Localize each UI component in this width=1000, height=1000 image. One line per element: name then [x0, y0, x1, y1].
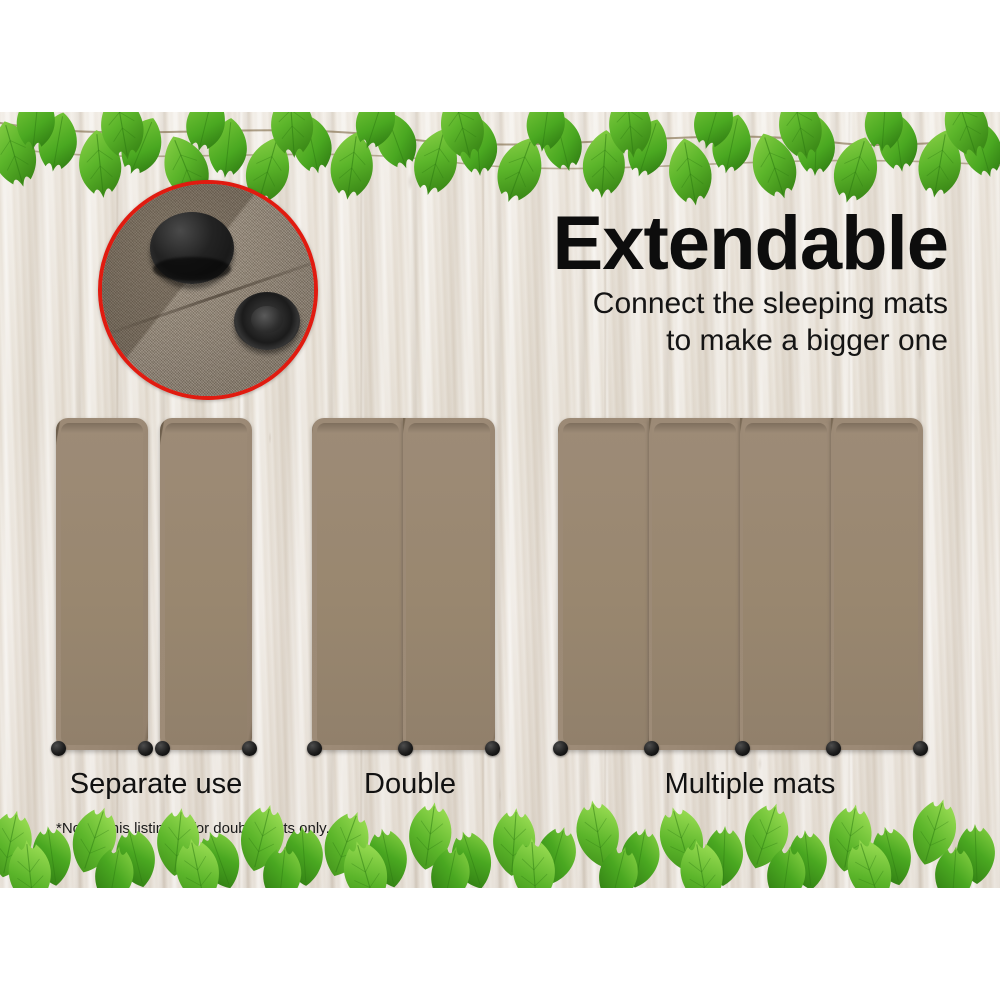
- subtitle-line-1: Connect the sleeping mats: [428, 286, 948, 323]
- caption-multiple-mats: Multiple mats: [580, 768, 920, 801]
- page-title: Extendable: [428, 208, 948, 280]
- sleeping-mat: [558, 418, 650, 750]
- sleeping-mat: [740, 418, 832, 750]
- mat-top-shade: [408, 423, 490, 433]
- caption-double: Double: [310, 768, 510, 801]
- connector-dot: [485, 741, 500, 756]
- mat-inner-panel: [652, 423, 738, 745]
- sleeping-mat: [312, 418, 404, 750]
- connector-dot: [398, 741, 413, 756]
- mat-inner-panel: [317, 423, 401, 745]
- mat-top-shade: [563, 423, 645, 433]
- connector-dot: [242, 741, 257, 756]
- mat-inner-panel: [834, 423, 918, 745]
- caption-separate-use: Separate use: [36, 768, 276, 801]
- mat-top-shade: [317, 423, 399, 433]
- sleeping-mat: [56, 418, 148, 750]
- mat-top-shade: [165, 423, 247, 433]
- mat-top-shade: [836, 423, 918, 433]
- sleeping-mat: [649, 418, 741, 750]
- connector-dot: [644, 741, 659, 756]
- connector-dot: [913, 741, 928, 756]
- headline-block: Extendable Connect the sleeping mats to …: [428, 208, 948, 359]
- mat-group-double: [312, 418, 495, 750]
- mat-top-shade: [61, 423, 143, 433]
- subtitle: Connect the sleeping mats to make a bigg…: [428, 286, 948, 359]
- connector-dot: [51, 741, 66, 756]
- mat-group-multiple: [558, 418, 923, 750]
- subtitle-line-2: to make a bigger one: [428, 323, 948, 360]
- disclaimer-note: *Note: This listing is for double mats o…: [56, 820, 330, 837]
- connector-dot: [553, 741, 568, 756]
- connector-dot: [826, 741, 841, 756]
- connector-dot: [138, 741, 153, 756]
- mat-inner-panel: [165, 423, 247, 745]
- connector-dot: [307, 741, 322, 756]
- snap-button-socket-icon: [234, 292, 300, 350]
- snap-button-stud-icon: [150, 212, 234, 284]
- connector-dot: [735, 741, 750, 756]
- mat-group-separate: [56, 418, 252, 750]
- connector-dot: [155, 741, 170, 756]
- mat-inner-panel: [743, 423, 829, 745]
- sleeping-mat: [831, 418, 923, 750]
- snap-fastener-closeup-inset: [98, 180, 318, 400]
- sleeping-mat: [403, 418, 495, 750]
- mat-inner-panel: [406, 423, 490, 745]
- sleeping-mat: [160, 418, 252, 750]
- mat-top-shade: [654, 423, 736, 433]
- mat-inner-panel: [563, 423, 647, 745]
- mat-top-shade: [745, 423, 827, 433]
- product-feature-graphic: Extendable Connect the sleeping mats to …: [0, 0, 1000, 1000]
- mat-inner-panel: [61, 423, 143, 745]
